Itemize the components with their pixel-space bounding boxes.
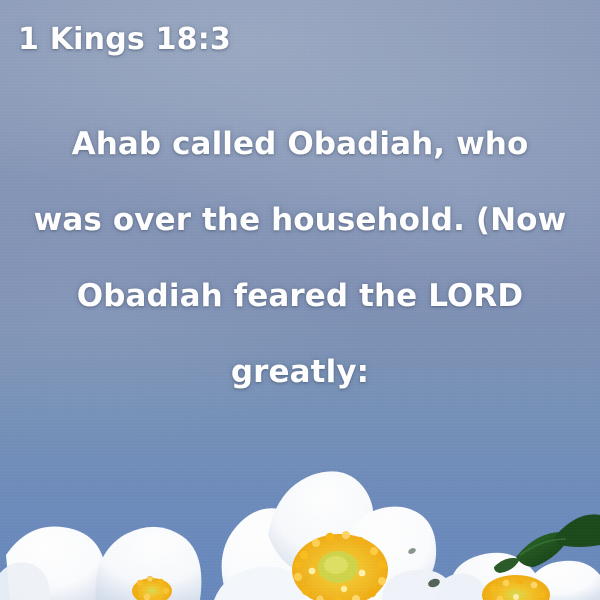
flower-right <box>435 514 600 600</box>
flower-illustration <box>0 415 600 600</box>
verse-line: greatly: <box>14 334 586 410</box>
flower-center-main <box>214 471 458 600</box>
flower-photo-region <box>0 415 600 600</box>
verse-image-canvas: 1 Kings 18:3 Ahab called Obadiah, who wa… <box>0 0 600 600</box>
verse-line: Obadiah feared the LORD <box>14 258 586 334</box>
verse-text-block: Ahab called Obadiah, who was over the ho… <box>0 106 600 410</box>
leaf <box>555 514 600 547</box>
verse-line: Ahab called Obadiah, who <box>14 106 586 182</box>
flower-left-small <box>0 527 201 600</box>
verse-line: was over the household. (Now <box>14 182 586 258</box>
scripture-reference: 1 Kings 18:3 <box>18 22 231 57</box>
